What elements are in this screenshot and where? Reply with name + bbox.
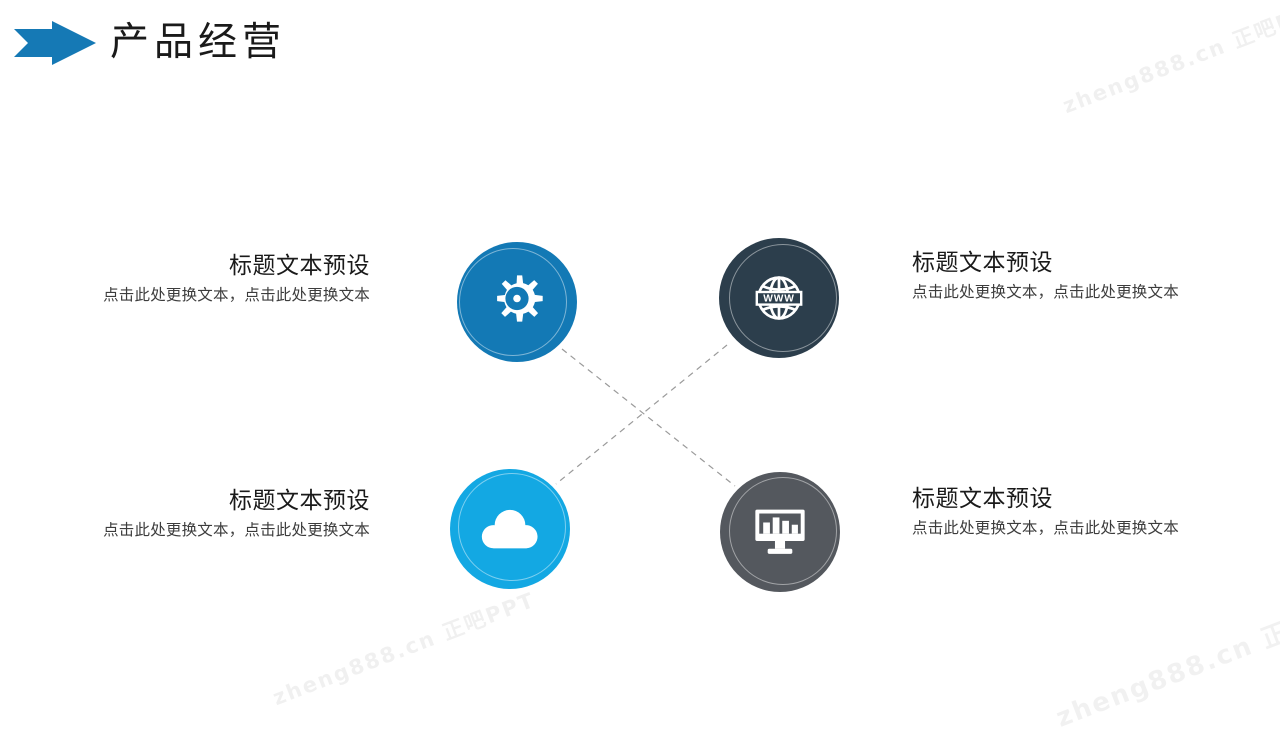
svg-text:WWW: WWW (763, 294, 795, 305)
node-monitor[interactable] (720, 472, 840, 592)
node-gear[interactable] (457, 242, 577, 362)
text-block-gear-body: 点击此处更换文本，点击此处更换文本 (80, 284, 370, 307)
node-globe[interactable]: WWW (719, 238, 839, 358)
text-block-gear-title: 标题文本预设 (80, 249, 370, 281)
text-block-globe: 标题文本预设 点击此处更换文本，点击此处更换文本 (912, 246, 1202, 304)
text-block-cloud-body: 点击此处更换文本，点击此处更换文本 (80, 519, 370, 542)
gear-icon (457, 242, 577, 362)
monitor-chart-icon (720, 472, 840, 592)
text-block-globe-title: 标题文本预设 (912, 246, 1202, 278)
node-cloud[interactable] (450, 469, 570, 589)
diagram-canvas: WWW (0, 0, 1280, 720)
text-block-gear: 标题文本预设 点击此处更换文本，点击此处更换文本 (80, 249, 370, 307)
text-block-monitor-title: 标题文本预设 (912, 482, 1202, 514)
connector-lines (0, 0, 1280, 720)
text-block-cloud-title: 标题文本预设 (80, 484, 370, 516)
www-globe-icon: WWW (719, 238, 839, 358)
text-block-globe-body: 点击此处更换文本，点击此处更换文本 (912, 281, 1202, 304)
text-block-monitor: 标题文本预设 点击此处更换文本，点击此处更换文本 (912, 482, 1202, 540)
text-block-cloud: 标题文本预设 点击此处更换文本，点击此处更换文本 (80, 484, 370, 542)
cloud-icon (450, 469, 570, 589)
text-block-monitor-body: 点击此处更换文本，点击此处更换文本 (912, 517, 1202, 540)
connector-globe-to-cloud (556, 345, 727, 484)
connector-gear-to-monitor (562, 349, 735, 486)
